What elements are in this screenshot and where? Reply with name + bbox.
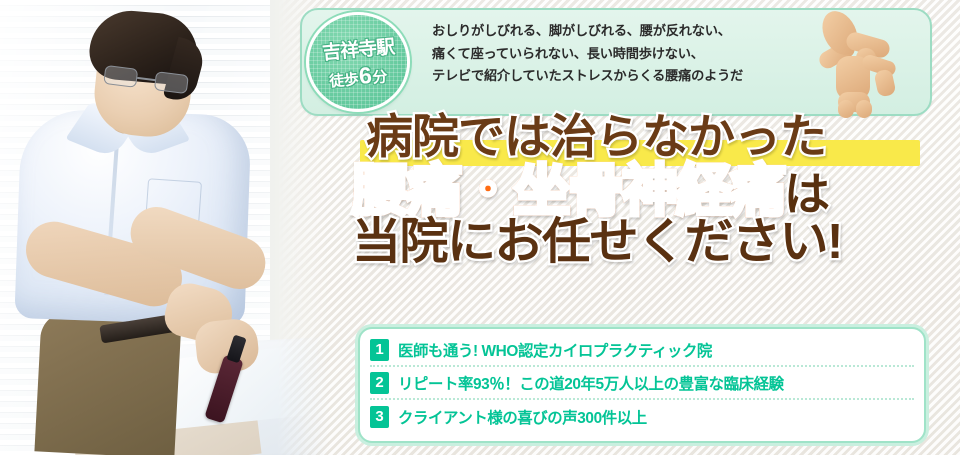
headline-block: 病院では治らなかった 腰痛・坐骨神経痛は 当院にお任せください! <box>352 112 952 269</box>
symptoms-line-1: おしりがしびれる、脚がしびれる、腰が反れない、 <box>432 20 818 43</box>
headline-line-3: 当院にお任せください! <box>352 216 952 269</box>
point-text: クライアント様の喜びの声300件以上 <box>398 406 647 428</box>
hero-banner: おしりがしびれる、脚がしびれる、腰が反れない、 痛くて座っていられない、長い時間… <box>0 0 960 455</box>
symptoms-line-2: 痛くて座っていられない、長い時間歩けない、 <box>432 43 818 66</box>
symptoms-text: おしりがしびれる、脚がしびれる、腰が反れない、 痛くて座っていられない、長い時間… <box>432 20 818 88</box>
point-number-badge: 1 <box>370 339 389 361</box>
point-number-badge: 2 <box>370 372 389 394</box>
point-text: 医師も通う! WHO認定カイロプラクティック院 <box>398 339 712 361</box>
headline-line-2-suffix: は <box>784 168 828 220</box>
walk-minutes-unit: 分 <box>372 65 388 87</box>
list-item: 1 医師も通う! WHO認定カイロプラクティック院 <box>370 334 914 367</box>
walk-minutes: 6 <box>358 61 373 89</box>
wooden-mannequin-icon <box>796 0 900 108</box>
point-text: リピート率93％！この道20年5万人以上の豊富な臨床経験 <box>398 372 784 394</box>
practitioner-photo <box>0 0 330 455</box>
headline-line-1: 病院では治らなかった <box>366 112 826 163</box>
symptoms-line-3: テレビで紹介していたストレスからくる腰痛のようだ <box>432 65 818 88</box>
station-access-badge: 吉祥寺駅 徒歩 6 分 <box>306 12 410 112</box>
walk-label: 徒歩 <box>328 68 359 91</box>
selling-points-panel: 1 医師も通う! WHO認定カイロプラクティック院 2 リピート率93％！この道… <box>358 327 926 443</box>
list-item: 3 クライアント様の喜びの声300件以上 <box>370 400 914 433</box>
point-number-badge: 3 <box>370 406 389 428</box>
list-item: 2 リピート率93％！この道20年5万人以上の豊富な臨床経験 <box>370 367 914 400</box>
walk-time: 徒歩 6 分 <box>328 60 388 92</box>
headline-line-2-highlight: 腰痛・坐骨神経痛 <box>352 159 784 222</box>
headline-line-2: 腰痛・坐骨神経痛は <box>352 161 952 220</box>
headline-line-1-row: 病院では治らなかった <box>352 112 952 163</box>
